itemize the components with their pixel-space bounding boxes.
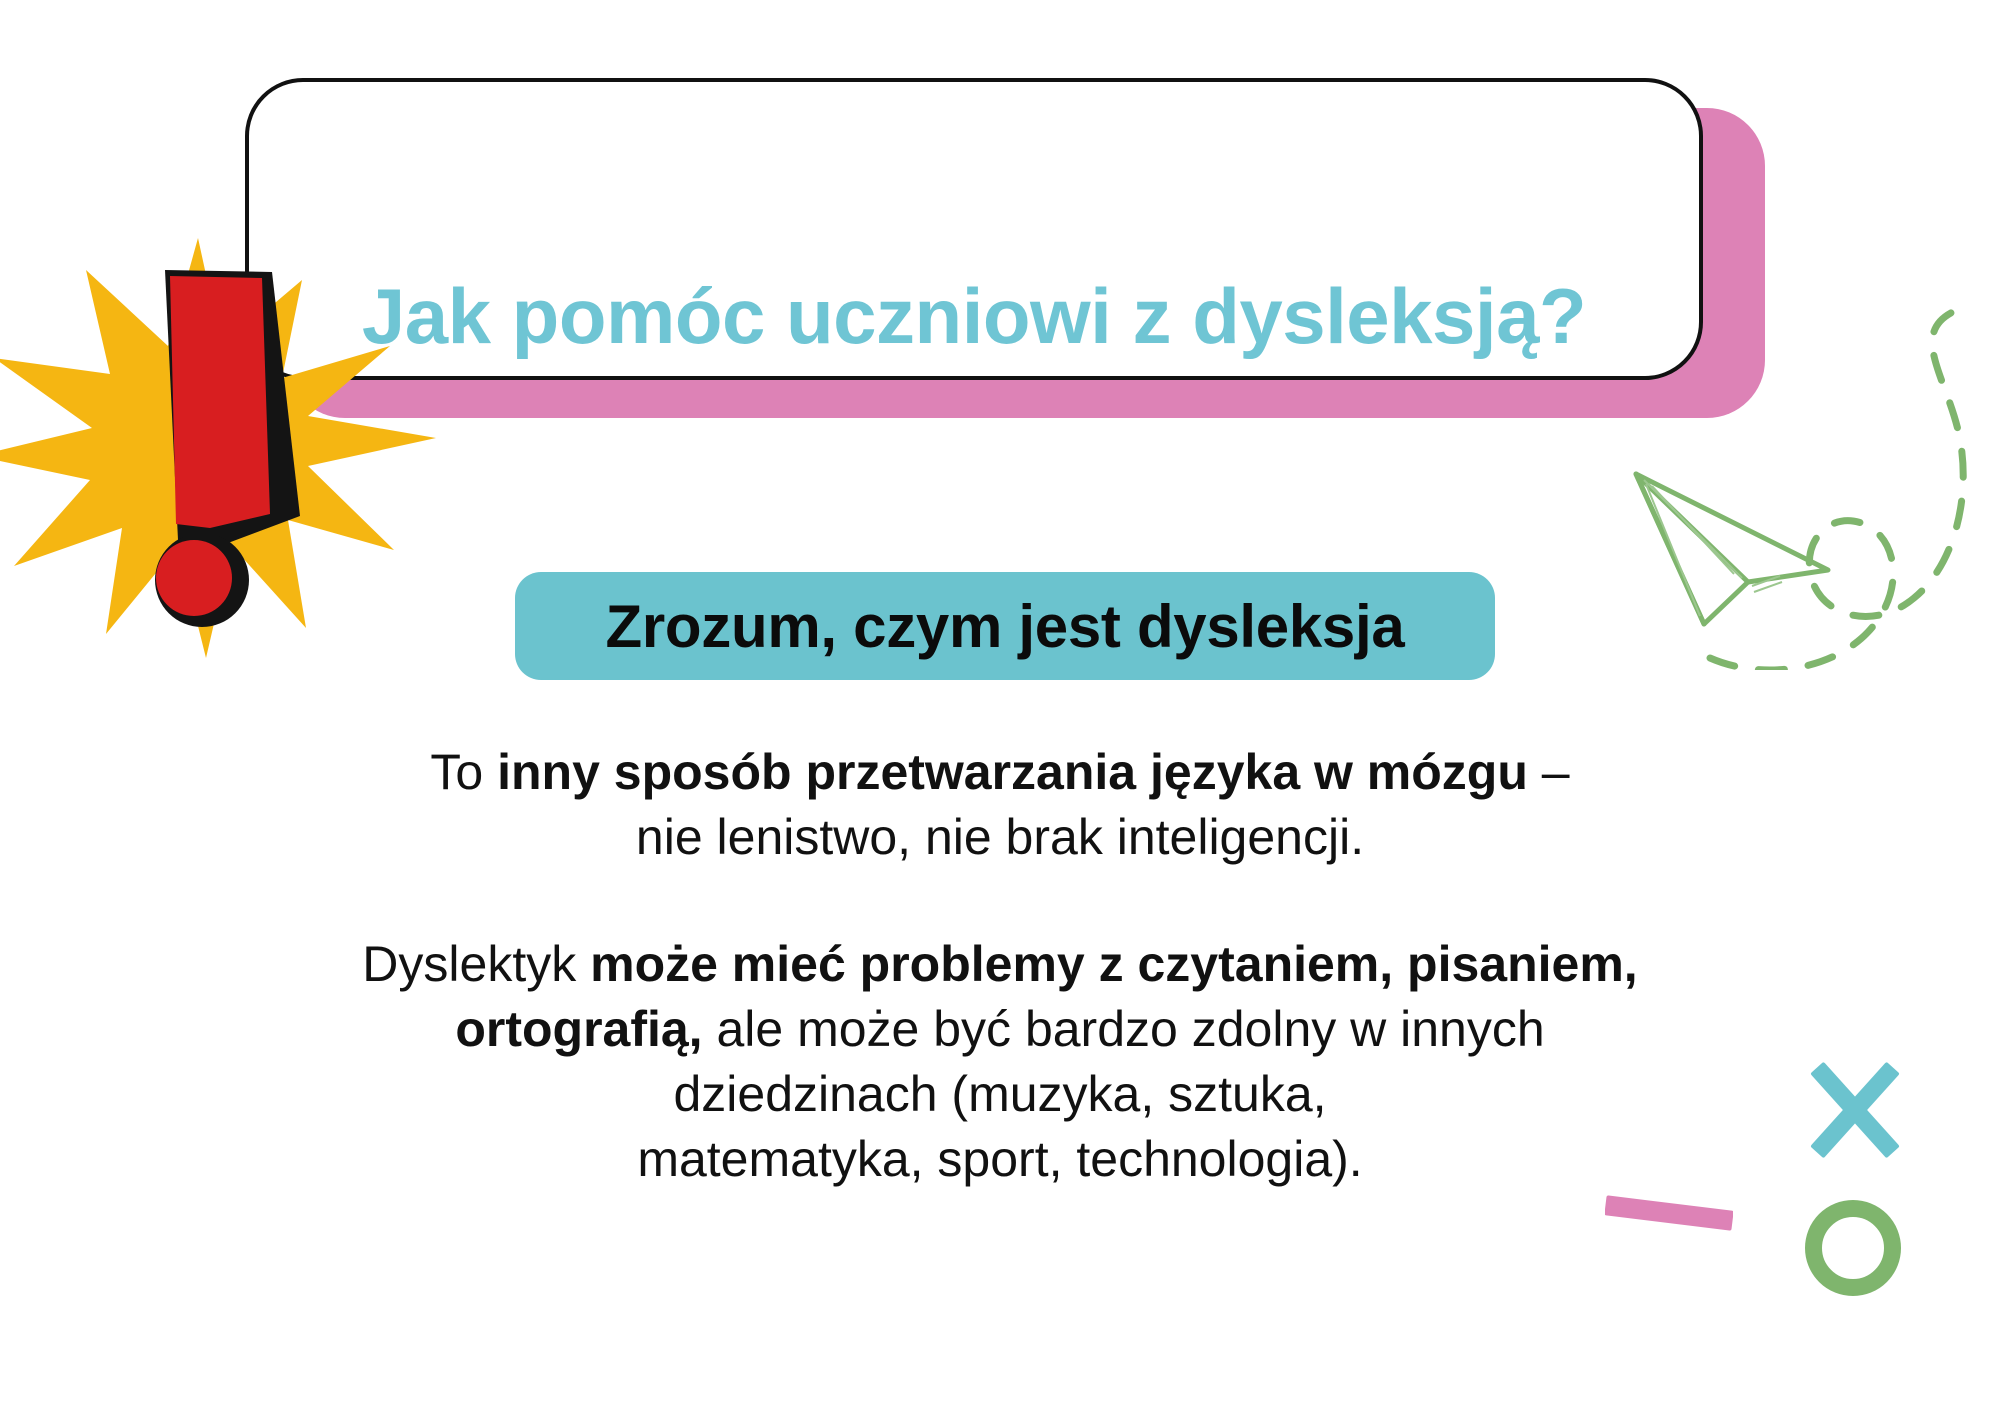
paragraph-1-line-1: To inny sposób przetwarzania języka w mó… bbox=[160, 740, 1840, 805]
dash-mark-icon bbox=[1605, 1195, 1733, 1235]
paragraph-spacer bbox=[160, 870, 1840, 932]
exclamation-burst-icon bbox=[0, 228, 440, 658]
paragraph-2-line-1: Dyslektyk może mieć problemy z czytaniem… bbox=[160, 932, 1840, 997]
paragraph-1-line-2: nie lenistwo, nie brak inteligencji. bbox=[160, 805, 1840, 870]
p1-lead: To bbox=[430, 744, 497, 800]
page-title: Jak pomóc uczniowi z dysleksją? bbox=[245, 78, 1703, 380]
cross-mark-icon bbox=[1800, 1055, 1910, 1165]
paragraph-2-line-2: ortografią, ale może być bardzo zdolny w… bbox=[160, 997, 1840, 1062]
ring-outline-icon bbox=[1805, 1200, 1901, 1296]
paper-plane-icon bbox=[1630, 470, 1840, 630]
poster-canvas: Jak pomóc uczniowi z dysleksją? Zrozum, … bbox=[0, 0, 2000, 1414]
title-card: Jak pomóc uczniowi z dysleksją? bbox=[245, 78, 1765, 418]
paragraph-2-line-4: matematyka, sport, technologia). bbox=[160, 1127, 1840, 1192]
p1-bold-1: inny sposób przetwarzania języka w mózgu bbox=[497, 744, 1528, 800]
paragraph-2-line-3: dziedzinach (muzyka, sztuka, bbox=[160, 1062, 1840, 1127]
p1-tail-1: – bbox=[1528, 744, 1570, 800]
p2-tail-1: ale może być bardzo zdolny w innych bbox=[703, 1001, 1545, 1057]
p2-bold-2: ortografią, bbox=[455, 1001, 702, 1057]
section-badge: Zrozum, czym jest dysleksja bbox=[515, 572, 1495, 680]
body-copy: To inny sposób przetwarzania języka w mó… bbox=[160, 740, 1840, 1192]
p2-lead: Dyslektyk bbox=[362, 936, 590, 992]
p2-bold-1: może mieć problemy z czytaniem, pisaniem… bbox=[590, 936, 1638, 992]
